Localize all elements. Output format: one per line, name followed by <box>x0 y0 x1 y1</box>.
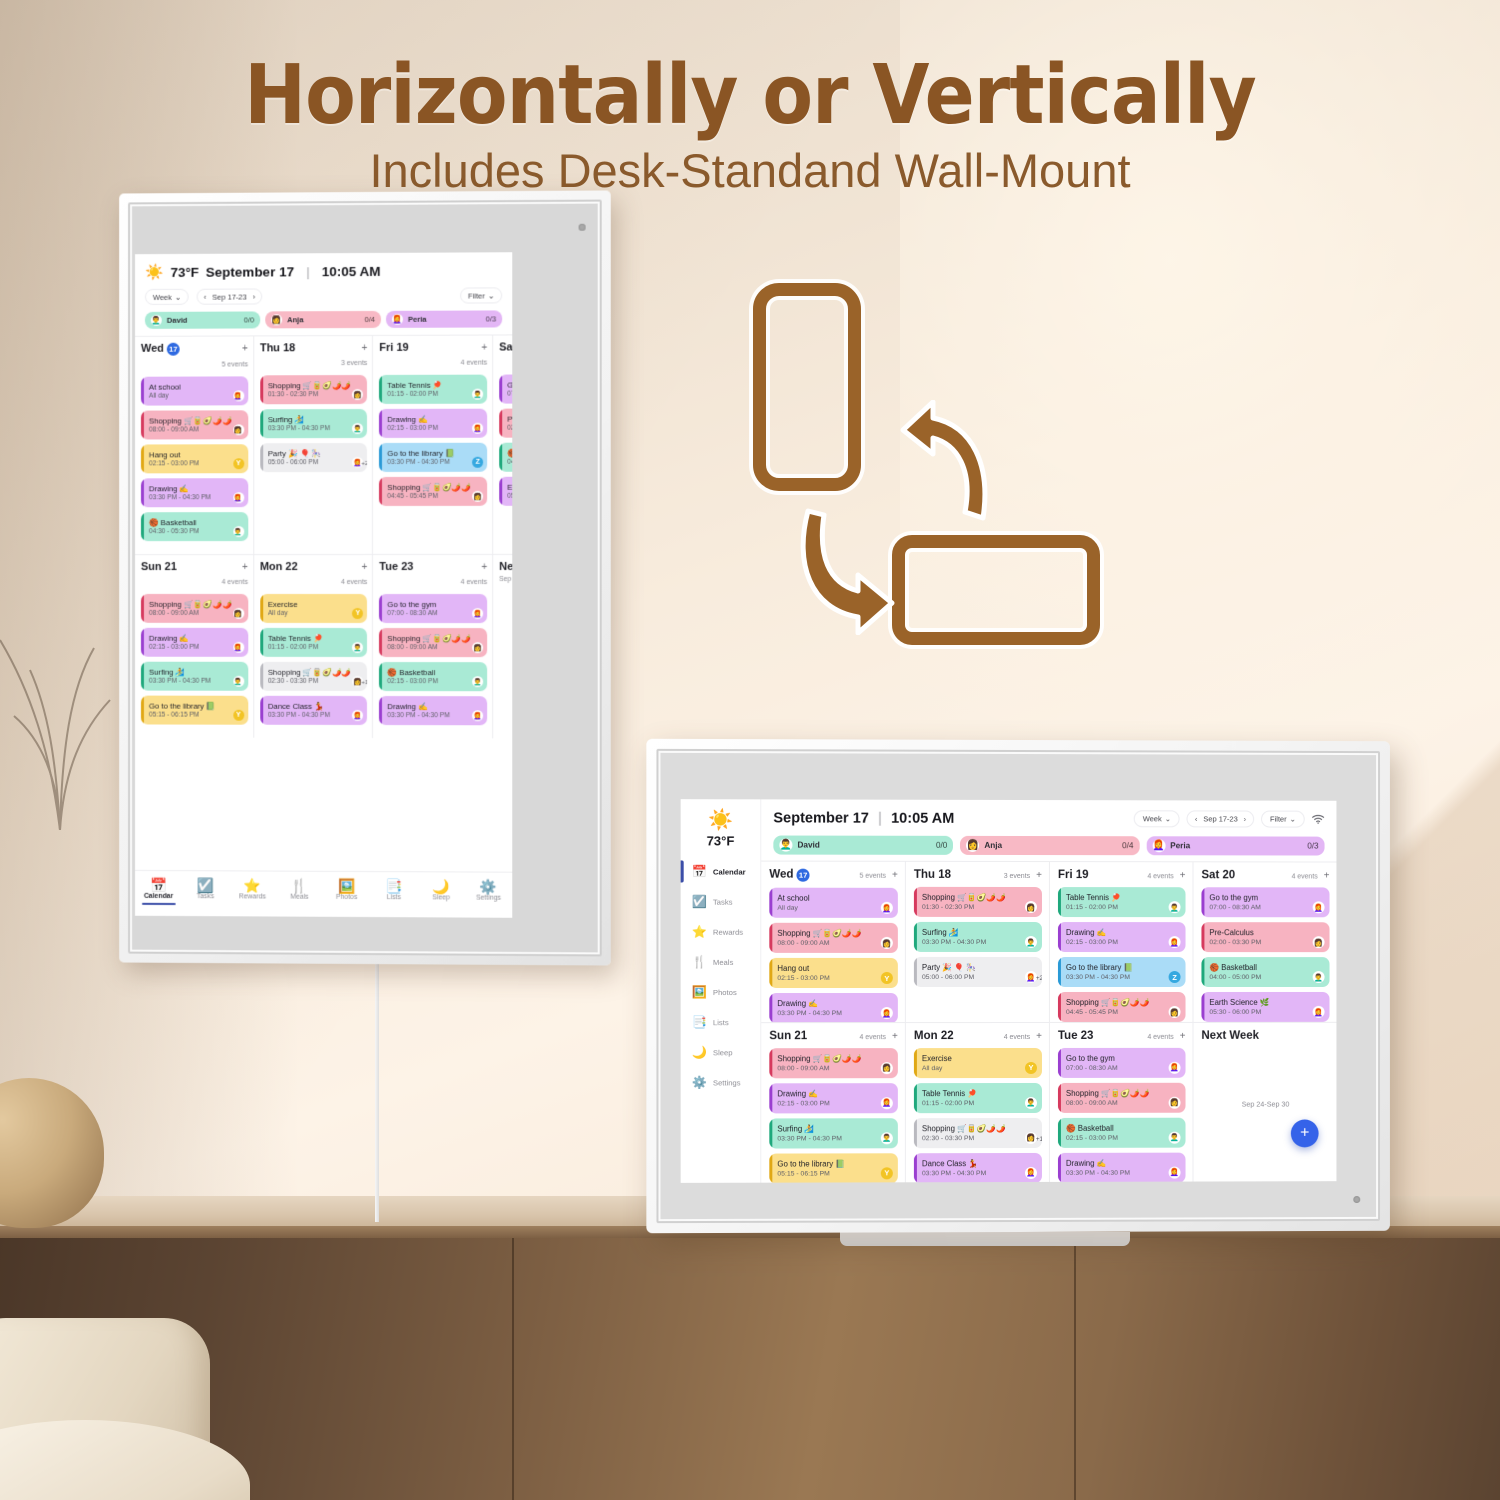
sleep-icon: 🌙 <box>692 1045 706 1059</box>
event-attendee-avatar: 👩‍🦰 <box>233 642 244 653</box>
date-range-label: Sep 17-23 <box>1203 814 1237 823</box>
day-label: Sat 20 <box>499 341 512 353</box>
member-name: Peria <box>1170 841 1302 850</box>
event-color-bar <box>914 957 917 987</box>
event-card[interactable]: Drawing ✍️ 03:30 PM - 04:30 PM 👩‍🦰 <box>141 478 248 507</box>
event-time: 02:00 - 03:30 PM <box>1209 939 1329 946</box>
event-time: 01:30 - 02:30 PM <box>922 904 1042 911</box>
event-card[interactable]: Drawing ✍️ 02:15 - 03:00 PM 👩‍🦰 <box>1058 922 1186 952</box>
event-time: 07:00 - 08:30 AM <box>1066 1064 1186 1071</box>
event-count: 3 events <box>1004 873 1030 880</box>
day-column-sat-20: Sat 20 4 events + Go to the gym 07:00 - … <box>1193 861 1336 1021</box>
event-attendee-avatar: 👩‍🦰 <box>1169 1166 1181 1178</box>
event-title: Surfing 🏄 <box>777 1124 898 1133</box>
photos-icon: 🖼️ <box>692 985 706 999</box>
member-name: David <box>167 316 239 325</box>
settings-icon: ⚙️ <box>692 1075 706 1089</box>
member-chip-anja[interactable]: 👩 Anja 0/4 <box>960 836 1139 855</box>
chevron-down-icon: ⌄ <box>1165 814 1171 823</box>
event-card[interactable]: Party 🎉 🎈 🎠 05:00 - 06:00 PM 👩‍🦰 +2 <box>914 957 1042 987</box>
member-task-count: 0/3 <box>486 314 497 323</box>
event-title: Go to the library 📗 <box>1066 963 1186 972</box>
sidebar: ☀️ 73°F 📅 Calendar ☑️ Tasks ⭐ Rewards 🍴 … <box>681 799 762 1183</box>
event-attendee-avatar: 👩 <box>1025 901 1037 913</box>
day-header: Sat 20 4 events + <box>1201 869 1329 881</box>
sidebar-item-label: Calendar <box>713 867 746 876</box>
chevron-down-icon: ⌄ <box>175 292 181 301</box>
day-column-tue-23: Tue 23 4 events + Go to the gym 07:00 - … <box>1050 1021 1194 1182</box>
event-count: 5 events <box>859 873 886 880</box>
day-label: Mon 22 <box>914 1030 954 1042</box>
event-card[interactable]: Shopping 🛒🥫🥑🌶️🌶️ 08:00 - 09:00 AM 👩 <box>379 628 487 657</box>
sun-icon: ☀️ <box>145 263 164 281</box>
sidebar-item-tasks[interactable]: ☑️ Tasks <box>681 887 761 917</box>
current-date: September 17 <box>206 264 294 279</box>
event-attendee-avatar: 👩 <box>881 937 893 949</box>
rotate-down-arrow-icon <box>788 505 918 635</box>
event-card[interactable]: Shopping 🛒🥫🥑🌶️🌶️ 08:00 - 09:00 AM 👩 <box>769 1048 898 1078</box>
event-title: Pre-Calculus <box>507 414 512 423</box>
event-count: 5 events <box>222 361 248 368</box>
event-attendee-avatar: 👨‍🦱 <box>352 642 363 653</box>
event-time: 02:00 - 03:30 PM <box>507 425 512 432</box>
event-card[interactable]: Table Tennis 🏓 01:15 - 02:00 PM 👨‍🦱 <box>914 1082 1042 1112</box>
sidebar-item-label: Photos <box>713 988 737 997</box>
day-label: Wed <box>769 869 793 881</box>
date-time-separator: | <box>873 810 887 826</box>
page-headline: Horizontally or Vertically <box>75 48 1425 143</box>
event-attendee-avatar: 👩‍🦰 <box>1313 1006 1325 1018</box>
member-chip-peria[interactable]: 👩‍🦰 Peria 0/3 <box>386 310 502 328</box>
event-card[interactable]: At school All day 👩‍🦰 <box>141 376 248 405</box>
event-card[interactable]: Drawing ✍️ 02:15 - 03:00 PM 👩‍🦰 <box>379 409 487 438</box>
event-attendee-avatar: 👨‍🦱 <box>233 676 244 687</box>
day-header: Wed 17 5 events + <box>769 869 898 882</box>
event-title: Shopping 🛒🥫🥑🌶️🌶️ <box>922 893 1042 902</box>
event-card[interactable]: Surfing 🏄 03:30 PM - 04:30 PM 👨‍🦱 <box>141 662 248 691</box>
screen-horizontal[interactable]: ☀️ 73°F 📅 Calendar ☑️ Tasks ⭐ Rewards 🍴 … <box>681 799 1337 1183</box>
screen-vertical[interactable]: ☀️ 73°F September 17 | 10:05 AM Week ⌄ ‹… <box>135 252 512 918</box>
nav-item-label: Photos <box>336 894 357 901</box>
event-time: 02:30 - 03:30 PM <box>922 1134 1042 1141</box>
event-attendee-avatar: 👨‍🦱 <box>1025 1096 1037 1108</box>
sidebar-item-settings[interactable]: ⚙️ Settings <box>681 1067 761 1097</box>
event-card[interactable]: 🏀 Basketball 02:15 - 03:00 PM 👨‍🦱 <box>379 662 487 691</box>
event-title: Shopping 🛒🥫🥑🌶️🌶️ <box>922 1123 1042 1132</box>
current-time: 10:05 AM <box>891 810 954 826</box>
add-event-button[interactable]: + <box>1036 870 1042 881</box>
event-count: 4 events <box>341 579 367 586</box>
event-title: Dance Class 💃 <box>268 702 367 711</box>
event-card[interactable]: Shopping 🛒🥫🥑🌶️🌶️ 04:45 - 05:45 PM 👩 <box>379 477 487 506</box>
event-title: At school <box>777 894 898 903</box>
event-title: 🏀 Basketball <box>149 518 248 527</box>
event-title: Earth Science 🌿 <box>1209 998 1329 1007</box>
event-time: 07:00 - 08:30 AM <box>507 391 512 398</box>
event-attendee-avatar: 👩‍🦰 <box>472 608 483 619</box>
event-count: 4 events <box>1147 873 1173 880</box>
sidebar-item-sleep[interactable]: 🌙 Sleep <box>681 1037 761 1067</box>
day-column-sun-21: Sun 21 + 4 events Shopping 🛒🥫🥑🌶️🌶️ 08:00… <box>135 554 254 738</box>
event-attendee-avatar: 👩‍🦰 <box>352 710 363 721</box>
next-week-title: Next Week <box>1201 1029 1329 1041</box>
event-card[interactable]: Table Tennis 🏓 01:15 - 02:00 PM 👨‍🦱 <box>260 628 367 657</box>
date-time-separator: | <box>301 264 315 279</box>
event-time: 02:15 - 03:00 PM <box>1066 1134 1186 1141</box>
event-count: 4 events <box>1292 873 1318 880</box>
event-time: 04:00 - 05:00 PM <box>507 459 512 466</box>
sidebar-item-meals[interactable]: 🍴 Meals <box>681 947 761 977</box>
event-title: Party 🎉 🎈 🎠 <box>922 963 1042 972</box>
event-color-bar <box>769 958 772 988</box>
day-column-mon-22: Mon 22 4 events + Exercise All day Y Tab… <box>906 1021 1050 1182</box>
day-column-thu-18: Thu 18 + 3 events Shopping 🛒🥫🥑🌶️🌶️ 01:30… <box>254 335 373 554</box>
member-chip-peria[interactable]: 👩‍🦰 Peria 0/3 <box>1146 836 1324 855</box>
nav-item-tasks[interactable]: ☑️ Tasks <box>182 877 229 900</box>
lists-icon: 📑 <box>692 1015 706 1029</box>
avatar: 👩‍🦰 <box>1152 839 1165 852</box>
event-card[interactable]: Hang out 02:15 - 03:00 PM Y <box>769 958 898 988</box>
event-title: Go to the library 📗 <box>777 1159 898 1168</box>
event-card[interactable]: Shopping 🛒🥫🥑🌶️🌶️ 01:30 - 02:30 PM 👩 <box>260 375 367 404</box>
add-event-button[interactable]: + <box>892 1031 898 1042</box>
event-time: 05:30 - 06:00 PM <box>1209 1009 1329 1016</box>
camera-icon <box>579 224 586 231</box>
event-card[interactable]: Shopping 🛒🥫🥑🌶️🌶️ 02:30 - 03:30 PM 👩 +1 <box>260 662 367 691</box>
nav-item-label: Meals <box>290 894 308 901</box>
rewards-icon: ⭐ <box>692 925 706 939</box>
event-card[interactable]: Shopping 🛒🥫🥑🌶️🌶️ 08:00 - 09:00 AM 👩 <box>141 594 248 623</box>
event-time: 01:15 - 02:00 PM <box>922 1099 1042 1106</box>
event-card[interactable]: Shopping 🛒🥫🥑🌶️🌶️ 08:00 - 09:00 AM 👩 <box>1058 1082 1186 1112</box>
nav-item-meals[interactable]: 🍴 Meals <box>276 878 323 901</box>
portrait-frame-icon <box>753 283 861 491</box>
sidebar-item-label: Meals <box>713 957 733 966</box>
event-attendee-avatar: 👨‍🦱 <box>233 526 244 537</box>
event-card[interactable]: Go to the library 📗 03:30 PM - 04:30 PM … <box>1058 957 1186 987</box>
sidebar-item-photos[interactable]: 🖼️ Photos <box>681 977 761 1007</box>
event-count: 4 events <box>461 360 488 367</box>
add-event-button[interactable]: + <box>1324 870 1330 881</box>
event-attendee-avatar: 👨‍🦱 <box>1313 971 1325 983</box>
event-card[interactable]: Shopping 🛒🥫🥑🌶️🌶️ 02:30 - 03:30 PM 👩 +1 <box>914 1117 1042 1147</box>
sidebar-item-lists[interactable]: 📑 Lists <box>681 1007 761 1037</box>
day-label: Mon 22 <box>260 561 298 573</box>
event-color-bar <box>769 923 772 953</box>
event-card[interactable]: Table Tennis 🏓 01:15 - 02:00 PM 👨‍🦱 <box>379 375 487 404</box>
next-week-range: Sep 24-Sep 30 <box>1201 1099 1329 1108</box>
event-color-bar <box>260 375 263 404</box>
event-card[interactable]: Go to the gym 07:00 - 08:30 AM 👩‍🦰 <box>499 374 512 403</box>
event-card[interactable]: Go to the library 📗 03:30 PM - 04:30 PM … <box>379 443 487 472</box>
event-card[interactable]: Pre-Calculus 02:00 - 03:30 PM 👩 <box>1201 922 1329 952</box>
event-card[interactable]: Table Tennis 🏓 01:15 - 02:00 PM 👨‍🦱 <box>1058 887 1186 917</box>
sidebar-item-rewards[interactable]: ⭐ Rewards <box>681 917 761 947</box>
rewards-icon: ⭐ <box>229 877 276 893</box>
day-column-fri-19: Fri 19 + 4 events Table Tennis 🏓 01:15 -… <box>373 334 493 553</box>
event-title: Shopping 🛒🥫🥑🌶️🌶️ <box>1066 998 1186 1007</box>
event-attendee-avatar: 👩 <box>352 389 363 400</box>
event-color-bar <box>141 662 144 691</box>
event-attendee-avatar: 👨‍🦱 <box>472 676 483 687</box>
event-color-bar <box>260 696 263 725</box>
event-attendee-avatar: 👩 <box>472 491 483 502</box>
nav-item-calendar[interactable]: 📅 Calendar <box>135 877 182 905</box>
event-attendee-avatar: 👩‍🦰 <box>1169 936 1181 948</box>
event-card[interactable]: Go to the library 📗 05:15 - 06:15 PM Y <box>769 1153 898 1183</box>
day-label: Tue 23 <box>379 561 413 573</box>
member-chip-david[interactable]: 👨‍🦱 David 0/0 <box>145 311 260 328</box>
event-attendee-avatar: 👩 <box>472 642 483 653</box>
event-card[interactable]: 🏀 Basketball 04:00 - 05:00 PM 👨‍🦱 <box>1201 957 1329 987</box>
event-color-bar <box>914 1153 917 1183</box>
member-chip-david[interactable]: 👨‍🦱 David 0/0 <box>773 836 953 855</box>
event-title: Drawing ✍️ <box>387 414 487 423</box>
nav-item-settings[interactable]: ⚙️ Settings <box>465 878 512 901</box>
event-title: Shopping 🛒🥫🥑🌶️🌶️ <box>777 1054 898 1063</box>
event-time: 03:30 PM - 04:30 PM <box>922 1169 1042 1176</box>
event-card[interactable]: Drawing ✍️ 03:30 PM - 04:30 PM 👩‍🦰 <box>379 696 487 725</box>
cabinet-seam <box>1074 1238 1076 1500</box>
landscape-frame-icon <box>892 535 1100 645</box>
view-selector-label: Week <box>153 292 172 301</box>
event-color-bar <box>260 662 263 691</box>
date-range-nav[interactable]: ‹ Sep 17-23 › <box>197 288 262 304</box>
device-horizontal: ☀️ 73°F 📅 Calendar ☑️ Tasks ⭐ Rewards 🍴 … <box>646 739 1390 1233</box>
day-label: Fri 19 <box>1058 869 1089 881</box>
event-color-bar <box>379 628 382 657</box>
event-title: Go to the gym <box>1066 1053 1186 1062</box>
day-column-wed-17: Wed 17 + 5 events At school All day 👩‍🦰 … <box>135 335 254 554</box>
event-time: 08:00 - 09:00 AM <box>777 940 898 947</box>
event-color-bar <box>260 628 263 657</box>
event-title: Table Tennis 🏓 <box>922 1088 1042 1097</box>
event-title: Drawing ✍️ <box>149 484 248 493</box>
nav-item-label: Settings <box>476 895 501 902</box>
next-week-column: Next Week Sep 24-Sep 30 + <box>493 554 512 739</box>
nav-item-label: Rewards <box>239 893 266 900</box>
event-card[interactable]: Go to the gym 07:00 - 08:30 AM 👩‍🦰 <box>379 594 487 623</box>
member-name: David <box>797 841 930 850</box>
event-card[interactable]: Dance Class 💃 03:30 PM - 04:30 PM 👩‍🦰 <box>914 1152 1042 1182</box>
nav-item-label: Lists <box>387 894 401 901</box>
event-color-bar <box>1058 1152 1061 1182</box>
event-card[interactable]: Shopping 🛒🥫🥑🌶️🌶️ 08:00 - 09:00 AM 👩 <box>769 923 898 953</box>
event-attendee-avatar: 👨‍🦱 <box>1169 1131 1181 1143</box>
temperature-value: 73°F <box>681 833 761 848</box>
tasks-icon: ☑️ <box>182 877 229 893</box>
event-color-bar <box>499 443 502 472</box>
event-title: Surfing 🏄 <box>149 667 248 676</box>
event-card[interactable]: Shopping 🛒🥫🥑🌶️🌶️ 01:30 - 02:30 PM 👩 <box>914 887 1042 917</box>
event-time: All day <box>777 905 898 912</box>
event-attendee-avatar: 👩‍🦰 <box>1313 901 1325 913</box>
event-card[interactable]: Hang out 02:15 - 03:00 PM Y <box>141 444 248 473</box>
temperature-value: 73°F <box>170 264 198 279</box>
event-count: 3 events <box>341 360 367 367</box>
calendar-grid-vertical: Wed 17 + 5 events At school All day 👩‍🦰 … <box>135 334 512 738</box>
next-week-range: Sep 24-Sep 30 <box>499 576 512 583</box>
event-extra-attendees: +1 <box>1036 1135 1042 1142</box>
nav-item-photos[interactable]: 🖼️ Photos <box>323 878 370 901</box>
chevron-down-icon: ⌄ <box>1290 815 1296 824</box>
event-time: 08:00 - 09:00 AM <box>1066 1099 1186 1106</box>
day-label: Sat 20 <box>1201 869 1235 881</box>
dried-plant-decor <box>0 530 130 830</box>
event-title: Drawing ✍️ <box>777 999 898 1008</box>
chevron-right-icon[interactable]: › <box>253 292 255 301</box>
event-time: 04:00 - 05:00 PM <box>1209 974 1329 981</box>
sidebar-item-calendar[interactable]: 📅 Calendar <box>681 856 761 886</box>
event-time: 05:15 - 06:15 PM <box>777 1170 898 1177</box>
event-attendee-avatar: 👩 <box>1169 1096 1181 1108</box>
avatar: 👨‍🦱 <box>151 315 162 326</box>
event-color-bar <box>260 594 263 623</box>
view-selector-label: Week <box>1143 814 1162 823</box>
event-card[interactable]: Shopping 🛒🥫🥑🌶️🌶️ 04:45 - 05:45 PM 👩 <box>1058 992 1186 1021</box>
page-subheadline: Includes Desk-Standand Wall-Mount <box>0 143 1500 198</box>
member-chip-anja[interactable]: 👩 Anja 0/4 <box>265 311 381 328</box>
member-task-count: 0/3 <box>1307 842 1318 851</box>
lists-icon: 📑 <box>370 878 417 894</box>
day-label: Fri 19 <box>379 342 408 354</box>
event-title: Drawing ✍️ <box>387 702 487 711</box>
chevron-right-icon[interactable]: › <box>1244 815 1246 824</box>
event-color-bar <box>914 922 917 952</box>
event-card[interactable]: 🏀 Basketball 04:00 - 05:00 PM 👨‍🦱 <box>499 443 512 472</box>
event-card[interactable]: At school All day 👩‍🦰 <box>769 888 898 918</box>
day-header: Sat 20 + <box>499 341 512 353</box>
event-color-bar <box>379 696 382 725</box>
event-title: Shopping 🛒🥫🥑🌶️🌶️ <box>1066 1088 1186 1097</box>
event-title: Hang out <box>149 450 248 459</box>
add-event-button[interactable]: + <box>1036 1030 1042 1041</box>
today-badge: 17 <box>167 343 180 356</box>
event-color-bar <box>379 409 382 438</box>
add-event-fab[interactable]: + <box>1291 1119 1319 1147</box>
event-color-bar <box>1201 922 1204 952</box>
event-card[interactable]: Surfing 🏄 03:30 PM - 04:30 PM 👨‍🦱 <box>914 922 1042 952</box>
event-color-bar <box>499 409 502 438</box>
event-title: Shopping 🛒🥫🥑🌶️🌶️ <box>268 381 367 390</box>
nav-item-rewards[interactable]: ⭐ Rewards <box>229 877 276 900</box>
chevron-left-icon[interactable]: ‹ <box>1195 814 1197 823</box>
event-card[interactable]: 🏀 Basketball 02:15 - 03:00 PM 👨‍🦱 <box>1058 1117 1186 1147</box>
filter-button[interactable]: Filter ⌄ <box>1261 811 1305 828</box>
view-selector[interactable]: Week ⌄ <box>1134 810 1180 827</box>
event-attendee-avatar: 👩‍🦰 <box>472 710 483 721</box>
event-time: 08:00 - 09:00 AM <box>777 1065 898 1072</box>
event-color-bar <box>141 594 144 623</box>
view-selector[interactable]: Week ⌄ <box>145 289 189 305</box>
meals-icon: 🍴 <box>276 878 323 894</box>
event-count: 4 events <box>1004 1033 1030 1040</box>
event-attendee-avatar: 👩‍🦰 <box>881 1097 893 1109</box>
event-title: Surfing 🏄 <box>922 928 1042 937</box>
member-task-count: 0/0 <box>244 315 255 324</box>
event-card[interactable]: Go to the gym 07:00 - 08:30 AM 👩‍🦰 <box>1201 887 1329 917</box>
event-title: Go to the gym <box>387 600 487 609</box>
nav-item-label: Sleep <box>432 894 450 901</box>
tasks-icon: ☑️ <box>692 895 706 909</box>
event-card[interactable]: Party 🎉 🎈 🎠 05:00 - 06:00 PM 👩‍🦰 +2 <box>260 443 367 472</box>
add-event-button[interactable]: + <box>892 870 898 881</box>
event-card[interactable]: Exercise All day Y <box>260 594 367 623</box>
event-attendee-avatar: Y <box>352 608 363 619</box>
avatar: 👩‍🦰 <box>392 314 403 325</box>
event-card[interactable]: Exercise All day Y <box>914 1047 1042 1077</box>
day-column-thu-18: Thu 18 3 events + Shopping 🛒🥫🥑🌶️🌶️ 01:30… <box>906 861 1050 1022</box>
sidebar-item-label: Sleep <box>713 1048 733 1057</box>
add-event-button[interactable]: + <box>1180 870 1186 881</box>
event-time: All day <box>922 1064 1042 1071</box>
event-title: Shopping 🛒🥫🥑🌶️🌶️ <box>149 416 248 425</box>
nav-item-lists[interactable]: 📑 Lists <box>370 878 417 901</box>
event-time: 03:30 PM - 04:30 PM <box>922 939 1042 946</box>
event-attendee-avatar: Y <box>233 458 244 469</box>
event-color-bar <box>769 1083 772 1113</box>
filter-button[interactable]: Filter ⌄ <box>460 287 502 303</box>
event-color-bar <box>141 377 144 406</box>
event-time: 03:30 PM - 04:30 PM <box>777 1135 898 1142</box>
nav-item-sleep[interactable]: 🌙 Sleep <box>418 878 465 901</box>
event-attendee-avatar: 👩 <box>233 424 244 435</box>
event-card[interactable]: Earth Science 🌿 05:30 - 06:00 PM 👩‍🦰 <box>499 477 512 506</box>
event-title: Shopping 🛒🥫🥑🌶️🌶️ <box>387 483 487 492</box>
photos-icon: 🖼️ <box>323 878 370 894</box>
event-color-bar <box>499 375 502 404</box>
event-card[interactable]: Drawing ✍️ 03:30 PM - 04:30 PM 👩‍🦰 <box>769 993 898 1022</box>
day-label: Wed <box>141 343 164 355</box>
event-color-bar <box>1201 992 1204 1021</box>
device-vertical: ☀️ 73°F September 17 | 10:05 AM Week ⌄ ‹… <box>119 190 611 965</box>
event-title: Drawing ✍️ <box>149 634 248 643</box>
event-card[interactable]: Surfing 🏄 03:30 PM - 04:30 PM 👨‍🦱 <box>260 409 367 438</box>
add-event-button[interactable]: + <box>1180 1030 1186 1041</box>
filter-label: Filter <box>1270 815 1287 824</box>
event-card[interactable]: Earth Science 🌿 05:30 - 06:00 PM 👩‍🦰 <box>1201 992 1329 1021</box>
chevron-left-icon[interactable]: ‹ <box>204 292 206 301</box>
desk-stand-base <box>840 1232 1130 1246</box>
event-card[interactable]: Drawing ✍️ 03:30 PM - 04:30 PM 👩‍🦰 <box>1058 1152 1186 1182</box>
wifi-icon <box>1312 814 1325 825</box>
event-card[interactable]: Dance Class 💃 03:30 PM - 04:30 PM 👩‍🦰 <box>260 696 367 725</box>
event-time: 04:45 - 05:45 PM <box>1066 1009 1186 1016</box>
event-card[interactable]: Go to the gym 07:00 - 08:30 AM 👩‍🦰 <box>1058 1047 1186 1077</box>
event-attendee-avatar: 👩‍🦰 <box>1025 1166 1037 1178</box>
date-range-nav[interactable]: ‹ Sep 17-23 › <box>1187 810 1254 827</box>
event-attendee-avatar: Y <box>881 1167 893 1179</box>
event-color-bar <box>914 1118 917 1148</box>
event-card[interactable]: Go to the library 📗 05:15 - 06:15 PM Y <box>141 696 248 725</box>
day-header: Mon 22 4 events + <box>914 1029 1042 1041</box>
event-card[interactable]: Shopping 🛒🥫🥑🌶️🌶️ 08:00 - 09:00 AM 👩 <box>141 410 248 439</box>
event-attendee-avatar: 👨‍🦱 <box>881 1132 893 1144</box>
day-column-wed-17: Wed 17 5 events + At school All day 👩‍🦰 … <box>761 861 906 1022</box>
event-attendee-avatar: Y <box>881 972 893 984</box>
event-card[interactable]: Surfing 🏄 03:30 PM - 04:30 PM 👨‍🦱 <box>769 1118 898 1148</box>
event-title: Go to the gym <box>1209 893 1329 902</box>
event-card[interactable]: 🏀 Basketball 04:30 - 05:30 PM 👨‍🦱 <box>141 512 248 541</box>
event-card[interactable]: Pre-Calculus 02:00 - 03:30 PM 👩 <box>499 408 512 437</box>
event-title: At school <box>149 382 248 391</box>
event-card[interactable]: Drawing ✍️ 02:15 - 03:00 PM 👩‍🦰 <box>769 1083 898 1113</box>
event-card[interactable]: Drawing ✍️ 02:15 - 03:00 PM 👩‍🦰 <box>141 628 248 657</box>
day-label: Tue 23 <box>1058 1029 1094 1041</box>
calendar-icon: 📅 <box>692 864 706 878</box>
member-chip-list: 👨‍🦱 David 0/0 👩 Anja 0/4 👩‍🦰 Peria 0/3 <box>761 830 1336 861</box>
event-attendee-avatar: 👩 <box>1313 936 1325 948</box>
